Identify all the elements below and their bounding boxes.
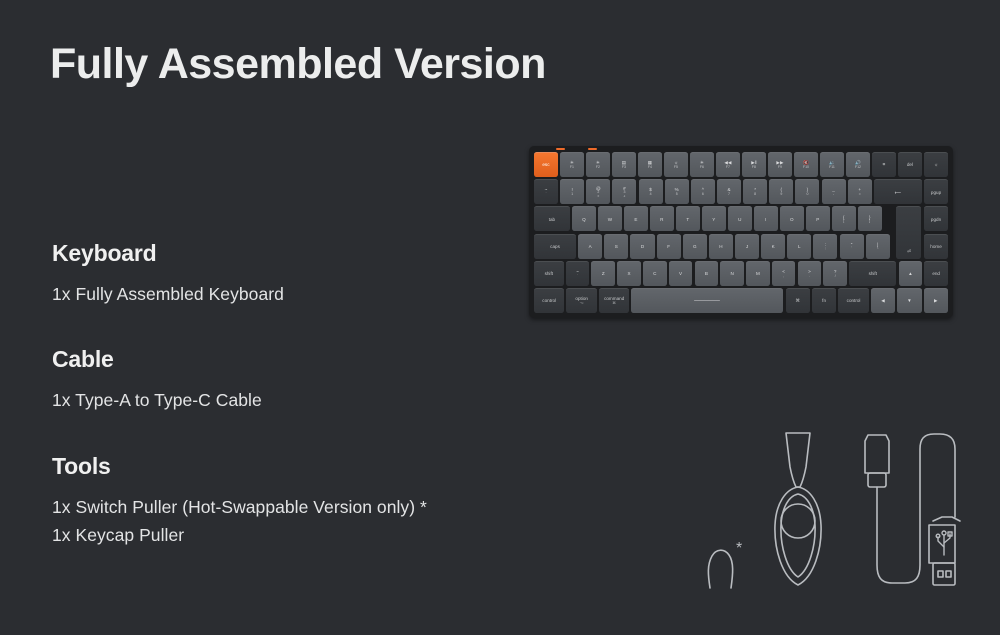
key-space[interactable]: {[ bbox=[832, 206, 856, 231]
key-legend-primary: P bbox=[816, 217, 819, 222]
key-legend-primary: control bbox=[542, 298, 556, 303]
key-legend-secondary: 0 bbox=[806, 193, 808, 197]
key-legend-primary: caps bbox=[550, 244, 560, 249]
key-legend-primary: W bbox=[608, 217, 612, 222]
key-legend-secondary: 8 bbox=[754, 193, 756, 197]
key-legend-primary: home bbox=[930, 244, 942, 249]
key-home[interactable]: home bbox=[924, 234, 948, 259]
key-space[interactable]: ◀◀F7 bbox=[716, 152, 740, 177]
list-item: 1x Type-A to Type-C Cable bbox=[52, 386, 572, 414]
key-z[interactable]: Z bbox=[591, 261, 615, 286]
key-y[interactable]: Y bbox=[702, 206, 726, 231]
key-legend-secondary: / bbox=[835, 275, 836, 279]
key-space[interactable]: _- bbox=[822, 179, 846, 204]
keyboard-row-number-row: ~`!1@2€#3£$4%5^6&7*8(9)0_-+=⟵pgup bbox=[534, 179, 948, 204]
keyboard-product-image: esc☀F1☀F2▤F3▦F4☼F5☀F6◀◀F7▶‖F8▶▶F9🔇F10🔉F1… bbox=[529, 146, 953, 318]
keyboard-plate: esc☀F1☀F2▤F3▦F4☼F5☀F6◀◀F7▶‖F8▶▶F9🔇F10🔉F1… bbox=[534, 152, 948, 313]
key-b[interactable]: B bbox=[695, 261, 719, 286]
package-contents-list: Keyboard 1x Fully Assembled Keyboard Cab… bbox=[52, 240, 572, 549]
key-caps[interactable]: caps bbox=[534, 234, 576, 259]
key-space[interactable]: ~` bbox=[566, 261, 590, 286]
key-legend-primary: D bbox=[641, 244, 644, 249]
list-item: 1x Keycap Puller bbox=[52, 521, 572, 549]
switch-puller-asterisk: * bbox=[736, 540, 742, 557]
key-space[interactable]: @2€ bbox=[586, 179, 610, 204]
key-pgup[interactable]: pgup bbox=[924, 179, 948, 204]
key-legend-primary: ⟵ bbox=[895, 190, 902, 195]
key-legend-primary: V bbox=[679, 271, 682, 276]
key-legend-primary: J bbox=[746, 244, 748, 249]
key-a[interactable]: A bbox=[578, 234, 602, 259]
key-space[interactable]: ◀ bbox=[871, 288, 895, 313]
key-tab[interactable]: tab bbox=[534, 206, 570, 231]
key-space[interactable]: |\ bbox=[866, 234, 890, 259]
key-control[interactable]: control bbox=[838, 288, 868, 313]
key-space[interactable]: ▶ bbox=[924, 288, 948, 313]
key-space[interactable]: &7 bbox=[717, 179, 741, 204]
key-space[interactable]: 🔇F10 bbox=[794, 152, 818, 177]
key-legend-tertiary: € bbox=[597, 195, 599, 198]
key-legend-secondary: F8 bbox=[752, 166, 756, 170]
key-legend-secondary: ` bbox=[545, 193, 546, 197]
key-g[interactable]: G bbox=[683, 234, 707, 259]
key-legend-secondary: F1 bbox=[570, 166, 574, 170]
key-space[interactable]: !1 bbox=[560, 179, 584, 204]
key-legend-secondary: F2 bbox=[596, 166, 600, 170]
key-v[interactable]: V bbox=[669, 261, 693, 286]
key-space[interactable]: += bbox=[848, 179, 872, 204]
key-legend-secondary: , bbox=[783, 275, 784, 279]
key-legend-secondary: = bbox=[859, 193, 861, 197]
key-legend-secondary: F3 bbox=[622, 166, 626, 170]
key-legend-primary: Y bbox=[712, 217, 715, 222]
key-m[interactable]: M bbox=[746, 261, 770, 286]
key-legend-primary: fn bbox=[822, 298, 826, 303]
key-legend-secondary: ⌥ bbox=[580, 302, 584, 306]
key-space[interactable]: %5 bbox=[665, 179, 689, 204]
key-l[interactable]: L bbox=[787, 234, 811, 259]
keyboard-row-qwerty-row: tabQWERTYUIOP{[}]pgdn⏎ bbox=[534, 206, 948, 231]
key-shift[interactable]: shift bbox=[534, 261, 564, 286]
key-space[interactable]: (9 bbox=[769, 179, 793, 204]
key-f[interactable]: F bbox=[657, 234, 681, 259]
key-space[interactable]: ⌗ bbox=[872, 152, 896, 177]
key-t[interactable]: T bbox=[676, 206, 700, 231]
key-legend-primary: del bbox=[907, 162, 913, 167]
led-indicator-2 bbox=[588, 148, 597, 150]
key-control[interactable]: control bbox=[534, 288, 564, 313]
key-legend-secondary: [ bbox=[843, 220, 844, 224]
section-tools: Tools 1x Switch Puller (Hot-Swappable Ve… bbox=[52, 453, 572, 550]
key-command[interactable]: command⌘ bbox=[599, 288, 629, 313]
key-space[interactable]: }] bbox=[858, 206, 882, 231]
usb-cable-icon bbox=[865, 434, 960, 585]
key-space[interactable]: ~` bbox=[534, 179, 558, 204]
key-u[interactable]: U bbox=[728, 206, 752, 231]
key-legend-secondary: 5 bbox=[676, 193, 678, 197]
tools-illustration-group: * bbox=[690, 425, 962, 593]
key-legend-primary: shift bbox=[545, 271, 553, 276]
key-legend-primary: N bbox=[730, 271, 733, 276]
key-o[interactable]: O bbox=[780, 206, 804, 231]
key-legend-secondary: 6 bbox=[702, 193, 704, 197]
key-legend-secondary: F9 bbox=[778, 166, 782, 170]
key-legend-primary: R bbox=[660, 217, 663, 222]
key-space[interactable]: ☀F1 bbox=[560, 152, 584, 177]
key-enter[interactable]: ⏎ bbox=[896, 206, 921, 258]
spacebar-marking bbox=[694, 300, 720, 301]
key-legend-secondary: 4 bbox=[650, 193, 652, 197]
key-legend-primary: end bbox=[932, 271, 940, 276]
key-legend-primary: K bbox=[772, 244, 775, 249]
section-keyboard: Keyboard 1x Fully Assembled Keyboard bbox=[52, 240, 572, 308]
key-option[interactable]: option⌥ bbox=[566, 288, 596, 313]
key-legend-primary: S bbox=[615, 244, 618, 249]
key-d[interactable]: D bbox=[630, 234, 654, 259]
section-heading-cable: Cable bbox=[52, 346, 572, 373]
key-s[interactable]: S bbox=[604, 234, 628, 259]
key-legend-secondary: F12 bbox=[855, 166, 861, 170]
key-space[interactable]: ⌘ bbox=[786, 288, 810, 313]
key-legend-secondary: F6 bbox=[700, 166, 704, 170]
key-legend-secondary: . bbox=[809, 275, 810, 279]
keyboard-row-home-row: capsASDFGHJKL:;"'|\home bbox=[534, 234, 948, 259]
keyboard-row-shift-row: shift~`ZXCVBNM<,>.?/shift▲end bbox=[534, 261, 948, 286]
keycap-puller-icon bbox=[775, 433, 821, 585]
key-legend-primary: ⌗ bbox=[883, 162, 886, 167]
key-space[interactable]: ▶‖F8 bbox=[742, 152, 766, 177]
key-fn[interactable]: fn bbox=[812, 288, 836, 313]
key-legend-primary: esc bbox=[542, 162, 549, 167]
key-legend-primary: shift bbox=[869, 271, 877, 276]
key-space[interactable]: #3£ bbox=[612, 179, 636, 204]
key-legend-primary: control bbox=[847, 298, 861, 303]
key-legend-primary: ◀ bbox=[881, 298, 885, 303]
key-w[interactable]: W bbox=[598, 206, 622, 231]
key-legend-tertiary: £ bbox=[624, 195, 626, 198]
key-legend-primary: Z bbox=[602, 271, 605, 276]
key-legend-primary: ▼ bbox=[907, 298, 912, 303]
key-legend-secondary: ` bbox=[577, 275, 578, 279]
key-legend-primary: ▶ bbox=[934, 298, 938, 303]
key-legend-primary: Q bbox=[582, 217, 586, 222]
key-legend-primary: I bbox=[765, 217, 766, 222]
key-legend-secondary: 7 bbox=[728, 193, 730, 197]
key-legend-secondary: ' bbox=[851, 247, 852, 251]
list-item: 1x Switch Puller (Hot-Swappable Version … bbox=[52, 493, 572, 521]
key-legend-primary: ▲ bbox=[908, 271, 913, 276]
key-del[interactable]: del bbox=[898, 152, 922, 177]
key-legend-primary: ⌘ bbox=[795, 298, 800, 303]
key-space[interactable]: ▼ bbox=[897, 288, 921, 313]
key-space[interactable]: <, bbox=[772, 261, 796, 286]
key-legend-secondary: F5 bbox=[674, 166, 678, 170]
key-space[interactable]: )0 bbox=[795, 179, 819, 204]
keyboard-row-function-row: esc☀F1☀F2▤F3▦F4☼F5☀F6◀◀F7▶‖F8▶▶F9🔇F10🔉F1… bbox=[534, 152, 948, 177]
key-legend-primary: E bbox=[634, 217, 637, 222]
key-legend-secondary: - bbox=[833, 193, 834, 197]
key-space[interactable]: 🔉F11 bbox=[820, 152, 844, 177]
key-legend-primary: C bbox=[653, 271, 656, 276]
key-esc[interactable]: esc bbox=[534, 152, 558, 177]
key-space[interactable]: ☀F6 bbox=[690, 152, 714, 177]
key-legend-primary: pgup bbox=[931, 190, 941, 195]
section-heading-keyboard: Keyboard bbox=[52, 240, 572, 267]
key-h[interactable]: H bbox=[709, 234, 733, 259]
key-r[interactable]: R bbox=[650, 206, 674, 231]
led-indicator-1 bbox=[556, 148, 565, 150]
key-legend-secondary: F7 bbox=[726, 166, 730, 170]
key-legend-secondary: F10 bbox=[803, 166, 809, 170]
key-legend-secondary: ⌘ bbox=[612, 302, 616, 306]
key-legend-secondary: 1 bbox=[571, 193, 573, 197]
key-legend-primary: T bbox=[686, 217, 689, 222]
section-heading-tools: Tools bbox=[52, 453, 572, 480]
key-n[interactable]: N bbox=[720, 261, 744, 286]
key-legend-secondary: ; bbox=[825, 247, 826, 251]
key-x[interactable]: X bbox=[617, 261, 641, 286]
key-legend-primary: H bbox=[719, 244, 722, 249]
key-legend-secondary: ] bbox=[869, 220, 870, 224]
key-space[interactable]: :; bbox=[813, 234, 837, 259]
key-space[interactable]: "' bbox=[840, 234, 864, 259]
key-space[interactable]: ?/ bbox=[823, 261, 847, 286]
key-legend-primary: M bbox=[756, 271, 760, 276]
key-legend-secondary: F4 bbox=[648, 166, 652, 170]
key-pgdn[interactable]: pgdn bbox=[924, 206, 948, 231]
key-space[interactable]: ☼ bbox=[924, 152, 948, 177]
page-title: Fully Assembled Version bbox=[50, 40, 546, 89]
key-space[interactable]: ▦F4 bbox=[638, 152, 662, 177]
switch-puller-icon bbox=[708, 550, 732, 588]
key-space[interactable]: ☼F5 bbox=[664, 152, 688, 177]
key-legend-secondary: F11 bbox=[829, 166, 835, 170]
key-p[interactable]: P bbox=[806, 206, 830, 231]
key-legend-primary: tab bbox=[549, 217, 555, 222]
key-shift[interactable]: shift bbox=[849, 261, 896, 286]
key-spacebar[interactable] bbox=[631, 288, 783, 313]
key-space[interactable]: *8 bbox=[743, 179, 767, 204]
key-legend-primary: O bbox=[790, 217, 794, 222]
key-j[interactable]: J bbox=[735, 234, 759, 259]
key-e[interactable]: E bbox=[624, 206, 648, 231]
key-legend-primary: L bbox=[798, 244, 801, 249]
key-legend-primary: B bbox=[705, 271, 708, 276]
key-legend-secondary: 9 bbox=[780, 193, 782, 197]
key-space[interactable]: ☀F2 bbox=[586, 152, 610, 177]
keyboard-indicator-leds bbox=[556, 148, 597, 150]
key-space[interactable]: ▤F3 bbox=[612, 152, 636, 177]
key-legend-primary: X bbox=[628, 271, 631, 276]
key-space[interactable]: ▶▶F9 bbox=[768, 152, 792, 177]
key-legend-primary: U bbox=[738, 217, 741, 222]
key-space[interactable]: ⟵ bbox=[874, 179, 922, 204]
list-item: 1x Fully Assembled Keyboard bbox=[52, 280, 572, 308]
key-i[interactable]: I bbox=[754, 206, 778, 231]
key-legend-primary: G bbox=[693, 244, 697, 249]
key-legend-primary: A bbox=[589, 244, 592, 249]
key-k[interactable]: K bbox=[761, 234, 785, 259]
key-space[interactable]: $4 bbox=[639, 179, 663, 204]
key-space[interactable]: 🔊F12 bbox=[846, 152, 870, 177]
key-legend-secondary: \ bbox=[877, 247, 878, 251]
keyboard-row-modifier-row: controloption⌥command⌘⌘fncontrol◀▼▶ bbox=[534, 288, 948, 313]
key-end[interactable]: end bbox=[924, 261, 948, 286]
key-space[interactable]: ^6 bbox=[691, 179, 715, 204]
key-space[interactable]: >. bbox=[798, 261, 822, 286]
key-space[interactable]: ▲ bbox=[899, 261, 923, 286]
key-legend-primary: ☼ bbox=[934, 162, 938, 167]
key-legend-primary: pgdn bbox=[931, 217, 941, 222]
key-legend-primary: F bbox=[667, 244, 670, 249]
section-cable: Cable 1x Type-A to Type-C Cable bbox=[52, 346, 572, 414]
key-c[interactable]: C bbox=[643, 261, 667, 286]
key-q[interactable]: Q bbox=[572, 206, 596, 231]
